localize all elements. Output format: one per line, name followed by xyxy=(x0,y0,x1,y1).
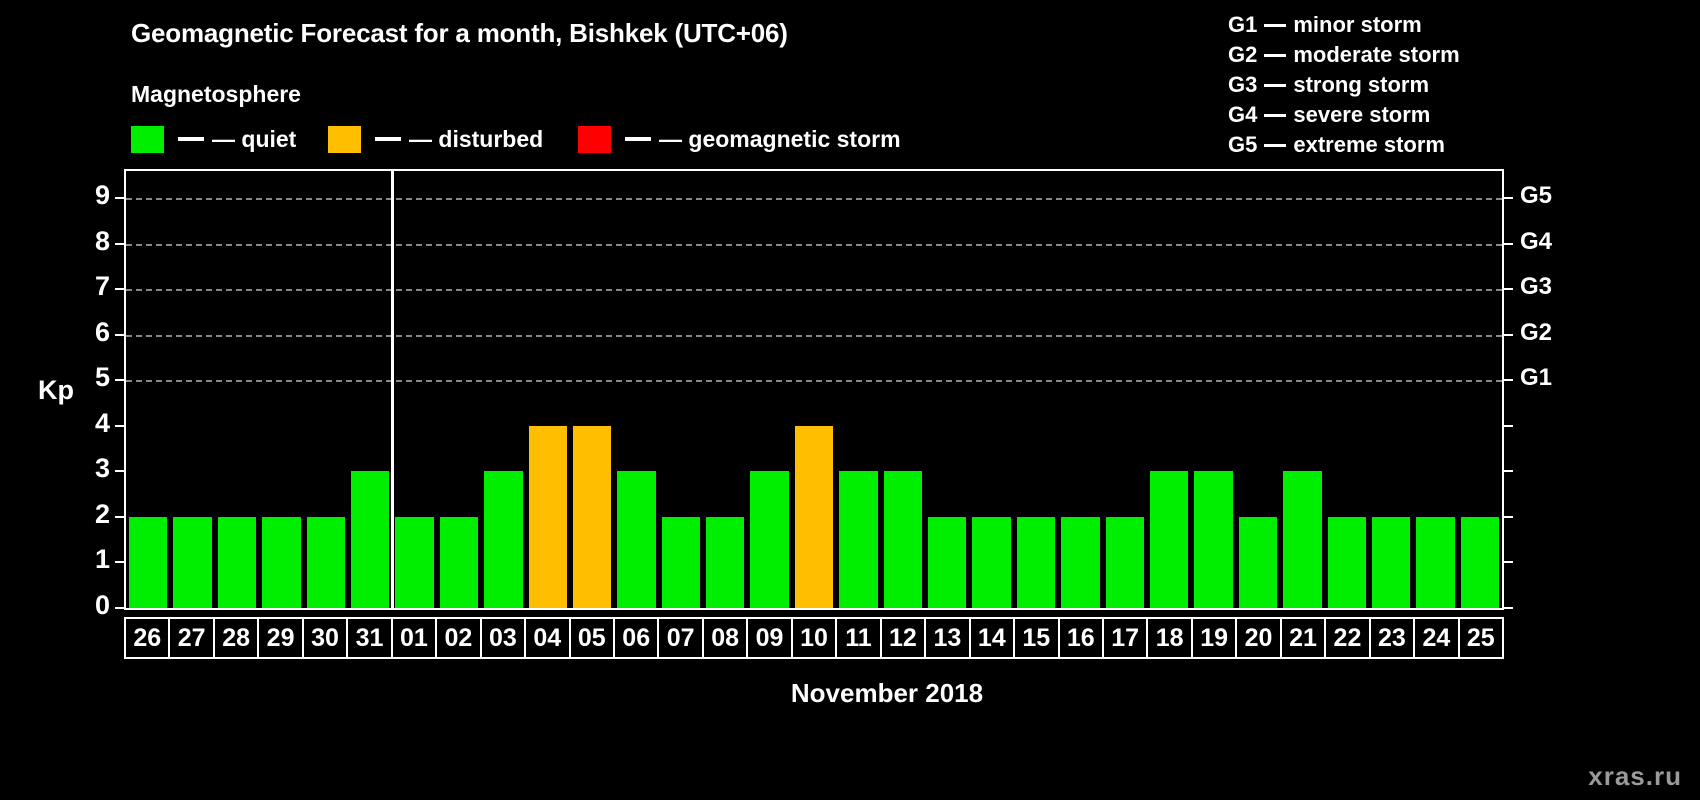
g-scale-legend: G1 minor storm G2 moderate storm G3 stro… xyxy=(1228,10,1460,160)
bar-cell xyxy=(1413,171,1457,608)
bar-cell xyxy=(437,171,481,608)
bar-26[interactable] xyxy=(129,517,167,608)
g-scale-label: extreme storm xyxy=(1293,132,1445,158)
g-scale-code: G1 xyxy=(1228,12,1257,38)
date-label-06: 06 xyxy=(613,619,657,657)
bar-cell xyxy=(304,171,348,608)
bar-06[interactable] xyxy=(617,471,655,608)
month-separator xyxy=(391,171,394,608)
bar-30[interactable] xyxy=(307,517,345,608)
y-axis-title: Kp xyxy=(38,375,74,406)
date-label-25: 25 xyxy=(1458,619,1504,657)
date-label-10: 10 xyxy=(791,619,835,657)
bar-cell xyxy=(1103,171,1147,608)
g-scale-code: G4 xyxy=(1228,102,1257,128)
bar-31[interactable] xyxy=(351,471,389,608)
bar-04[interactable] xyxy=(529,426,567,608)
bar-19[interactable] xyxy=(1194,471,1232,608)
bar-cell xyxy=(1058,171,1102,608)
legend-dash-icon xyxy=(375,137,401,141)
y-tick-label: 5 xyxy=(70,362,110,393)
legend-dash-icon xyxy=(178,137,204,141)
y-tick-label: 3 xyxy=(70,453,110,484)
y-tick-label: 8 xyxy=(70,226,110,257)
bar-cell xyxy=(747,171,791,608)
bar-cell xyxy=(1458,171,1502,608)
g-scale-row: G1 minor storm xyxy=(1228,10,1460,40)
g-scale-dash-icon xyxy=(1264,144,1286,147)
date-label-18: 18 xyxy=(1146,619,1190,657)
g-scale-dash-icon xyxy=(1264,24,1286,27)
bar-cell xyxy=(481,171,525,608)
g-tick-label: G1 xyxy=(1520,364,1580,392)
g-tick-label: G2 xyxy=(1520,319,1580,347)
bar-cell xyxy=(614,171,658,608)
date-label-16: 16 xyxy=(1058,619,1102,657)
bar-cell xyxy=(881,171,925,608)
bar-23[interactable] xyxy=(1372,517,1410,608)
date-label-04: 04 xyxy=(524,619,568,657)
g-scale-code: G2 xyxy=(1228,42,1257,68)
bar-cell xyxy=(1236,171,1280,608)
bar-03[interactable] xyxy=(484,471,522,608)
bar-cell xyxy=(925,171,969,608)
y-tick-label: 9 xyxy=(70,180,110,211)
bar-cell xyxy=(703,171,747,608)
legend-item-quiet: — quiet xyxy=(131,124,296,154)
g-scale-dash-icon xyxy=(1264,54,1286,57)
bar-02[interactable] xyxy=(440,517,478,608)
date-label-22: 22 xyxy=(1324,619,1368,657)
bar-cell xyxy=(792,171,836,608)
g-tick-label: G3 xyxy=(1520,273,1580,301)
bar-cell xyxy=(659,171,703,608)
bar-20[interactable] xyxy=(1239,517,1277,608)
page-title: Geomagnetic Forecast for a month, Bishke… xyxy=(131,18,788,49)
date-label-08: 08 xyxy=(702,619,746,657)
bar-29[interactable] xyxy=(262,517,300,608)
bar-01[interactable] xyxy=(395,517,433,608)
bar-cell xyxy=(170,171,214,608)
g-scale-dash-icon xyxy=(1264,84,1286,87)
legend-label-disturbed: — disturbed xyxy=(409,126,543,153)
date-label-26: 26 xyxy=(124,619,168,657)
g-scale-row: G4 severe storm xyxy=(1228,100,1460,130)
date-label-31: 31 xyxy=(346,619,390,657)
bar-21[interactable] xyxy=(1283,471,1321,608)
bar-cell xyxy=(215,171,259,608)
g-scale-row: G3 strong storm xyxy=(1228,70,1460,100)
bar-07[interactable] xyxy=(662,517,700,608)
g-scale-dash-icon xyxy=(1264,114,1286,117)
date-label-05: 05 xyxy=(569,619,613,657)
bar-cell xyxy=(570,171,614,608)
y-tick-label: 6 xyxy=(70,317,110,348)
date-label-24: 24 xyxy=(1413,619,1457,657)
chart-subtitle: Magnetosphere xyxy=(131,81,301,108)
legend-item-disturbed: — disturbed xyxy=(328,124,543,154)
bar-09[interactable] xyxy=(750,471,788,608)
date-label-30: 30 xyxy=(302,619,346,657)
x-axis-title-text: November 2018 xyxy=(791,678,983,709)
g-scale-row: G5 extreme storm xyxy=(1228,130,1460,160)
bar-14[interactable] xyxy=(972,517,1010,608)
watermark: xras.ru xyxy=(1588,761,1682,792)
date-label-12: 12 xyxy=(880,619,924,657)
legend-swatch-storm xyxy=(578,126,611,153)
legend-label-storm: — geomagnetic storm xyxy=(659,126,901,153)
date-label-29: 29 xyxy=(257,619,301,657)
bar-05[interactable] xyxy=(573,426,611,608)
bar-cell xyxy=(1280,171,1324,608)
y-tick-label: 7 xyxy=(70,271,110,302)
bar-cell xyxy=(348,171,392,608)
g-scale-code: G3 xyxy=(1228,72,1257,98)
bar-cell xyxy=(526,171,570,608)
x-axis-title: November 2018 xyxy=(0,678,1700,709)
date-label-27: 27 xyxy=(168,619,212,657)
y-tick-label: 4 xyxy=(70,408,110,439)
bar-cell xyxy=(1369,171,1413,608)
bar-cell xyxy=(126,171,170,608)
bar-15[interactable] xyxy=(1017,517,1055,608)
legend-item-geomagnetic-storm: — geomagnetic storm xyxy=(578,124,901,154)
date-label-02: 02 xyxy=(435,619,479,657)
y-tick-label: 0 xyxy=(70,590,110,621)
bar-17[interactable] xyxy=(1106,517,1144,608)
y-tick-label: 1 xyxy=(70,544,110,575)
bar-cell xyxy=(1014,171,1058,608)
bar-18[interactable] xyxy=(1150,471,1188,608)
date-label-13: 13 xyxy=(924,619,968,657)
date-label-20: 20 xyxy=(1235,619,1279,657)
x-axis-date-labels: 2627282930310102030405060708091011121314… xyxy=(124,617,1504,659)
chart-page: Geomagnetic Forecast for a month, Bishke… xyxy=(0,0,1700,800)
date-label-11: 11 xyxy=(835,619,879,657)
legend-swatch-disturbed xyxy=(328,126,361,153)
bar-13[interactable] xyxy=(928,517,966,608)
date-label-19: 19 xyxy=(1191,619,1235,657)
bar-12[interactable] xyxy=(884,471,922,608)
date-label-07: 07 xyxy=(657,619,701,657)
g-tick-label: G5 xyxy=(1520,182,1580,210)
legend-label-quiet: — quiet xyxy=(212,126,296,153)
bar-cell xyxy=(1147,171,1191,608)
bar-08[interactable] xyxy=(706,517,744,608)
date-label-03: 03 xyxy=(480,619,524,657)
date-label-01: 01 xyxy=(391,619,435,657)
bar-cell xyxy=(259,171,303,608)
date-label-14: 14 xyxy=(969,619,1013,657)
date-label-23: 23 xyxy=(1369,619,1413,657)
g-scale-label: minor storm xyxy=(1293,12,1421,38)
date-label-17: 17 xyxy=(1102,619,1146,657)
g-tick-label: G4 xyxy=(1520,228,1580,256)
bar-series xyxy=(126,171,1502,608)
bar-11[interactable] xyxy=(839,471,877,608)
bar-28[interactable] xyxy=(218,517,256,608)
bar-27[interactable] xyxy=(173,517,211,608)
bar-cell xyxy=(836,171,880,608)
bar-16[interactable] xyxy=(1061,517,1099,608)
plot-area xyxy=(124,169,1504,610)
g-scale-row: G2 moderate storm xyxy=(1228,40,1460,70)
date-label-21: 21 xyxy=(1280,619,1324,657)
bar-10[interactable] xyxy=(795,426,833,608)
date-label-15: 15 xyxy=(1013,619,1057,657)
date-label-28: 28 xyxy=(213,619,257,657)
date-label-09: 09 xyxy=(746,619,790,657)
bar-25[interactable] xyxy=(1461,517,1499,608)
bar-cell xyxy=(969,171,1013,608)
bar-22[interactable] xyxy=(1328,517,1366,608)
bar-cell xyxy=(1191,171,1235,608)
g-scale-label: strong storm xyxy=(1293,72,1429,98)
g-scale-label: moderate storm xyxy=(1293,42,1459,68)
bar-24[interactable] xyxy=(1416,517,1454,608)
g-scale-label: severe storm xyxy=(1293,102,1430,128)
g-scale-code: G5 xyxy=(1228,132,1257,158)
bar-cell xyxy=(1325,171,1369,608)
y-tick-label: 2 xyxy=(70,499,110,530)
legend-dash-icon xyxy=(625,137,651,141)
bar-cell xyxy=(392,171,436,608)
legend-swatch-quiet xyxy=(131,126,164,153)
